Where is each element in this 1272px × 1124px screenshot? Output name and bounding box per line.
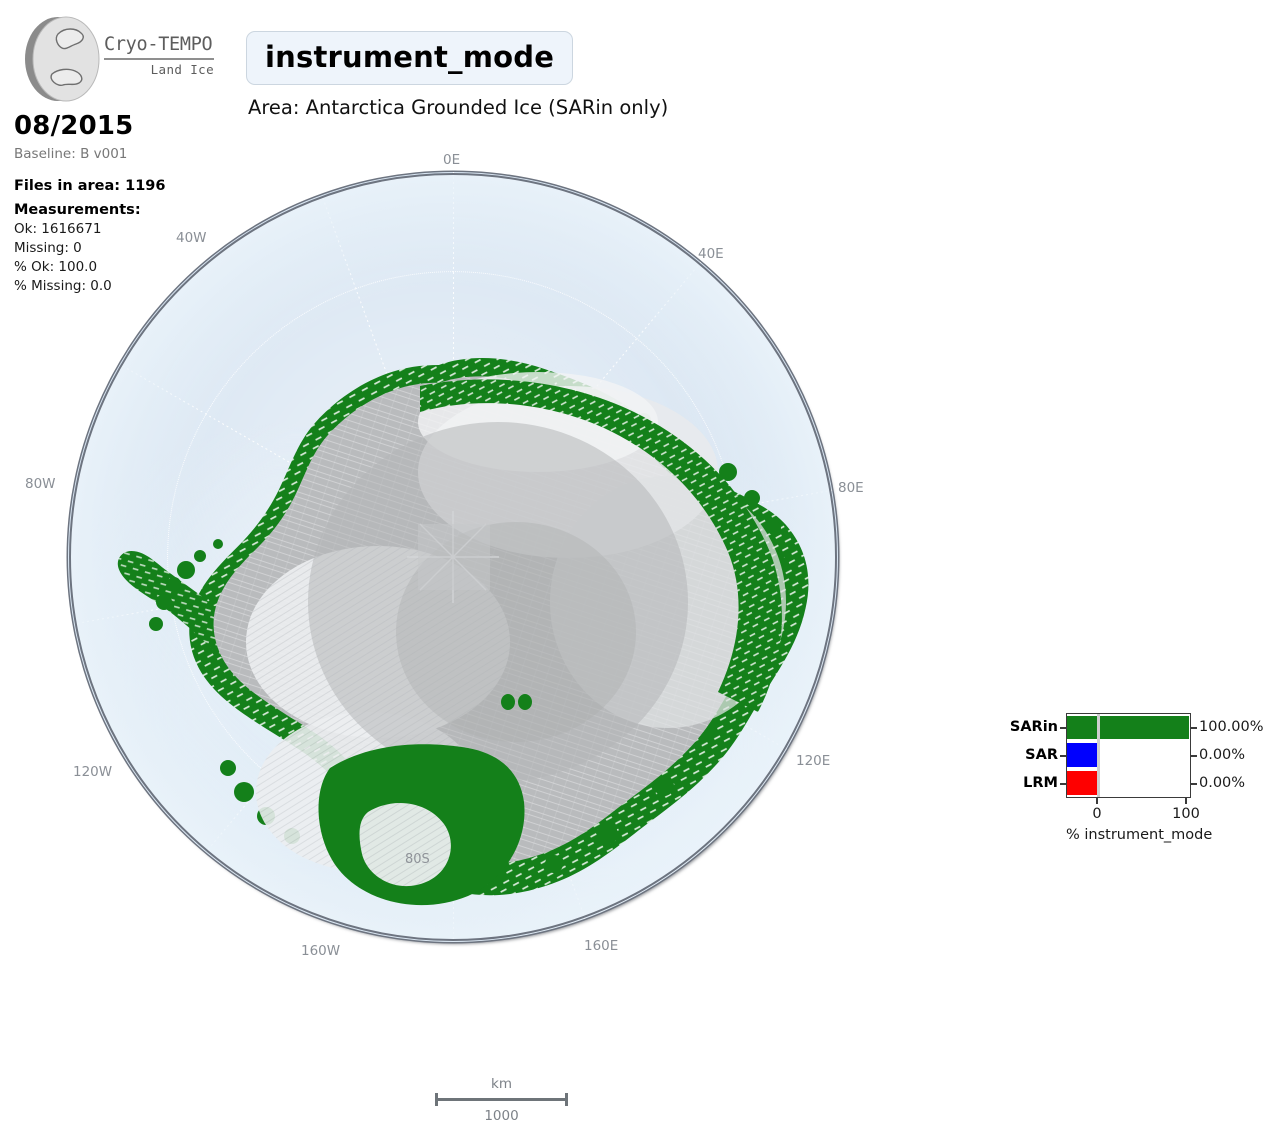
logo-title: Cryo-TEMPO xyxy=(104,34,214,55)
antarctica-landmass xyxy=(68,172,838,942)
baseline-label: Baseline: B v001 xyxy=(14,146,239,162)
polar-map[interactable]: 70S 80S km 1000 xyxy=(68,172,838,942)
legend-swatch-sar xyxy=(1067,743,1097,767)
xtick-0 xyxy=(1096,798,1098,804)
logo-subtitle: Land Ice xyxy=(104,62,214,77)
legend-category-sarin: SARin xyxy=(1010,719,1058,735)
lon-label-160w: 160W xyxy=(301,943,340,959)
xtick-label-100: 100 xyxy=(1172,806,1200,822)
legend-value-sarin: 100.00% xyxy=(1199,719,1264,735)
scale-bar-value: 1000 xyxy=(435,1108,568,1124)
scale-bar-unit: km xyxy=(435,1076,568,1092)
legend-swatch-lrm xyxy=(1067,771,1097,795)
legend-row-sarin[interactable]: SARin 100.00% xyxy=(1067,716,1190,740)
legend-row-lrm[interactable]: LRM 0.00% xyxy=(1067,771,1190,795)
legend-category-sar: SAR xyxy=(1025,747,1058,763)
lon-label-0e: 0E xyxy=(443,152,460,168)
cryo-tempo-logo: Cryo-TEMPO Land Ice xyxy=(14,12,214,104)
scale-bar-line xyxy=(435,1093,568,1106)
lat-label-80s: 80S xyxy=(405,852,430,867)
legend-bar-sarin xyxy=(1100,716,1189,740)
lon-label-160e: 160E xyxy=(584,938,618,954)
lon-label-40e: 40E xyxy=(698,246,724,262)
map-disc: 70S 80S xyxy=(68,172,838,942)
instrument-mode-legend-chart: SARin 100.00% SAR 0.00% LRM 0.00% xyxy=(1008,710,1263,850)
lon-label-120e: 120E xyxy=(796,753,830,769)
legend-value-sar: 0.00% xyxy=(1199,747,1245,763)
area-subtitle: Area: Antarctica Grounded Ice (SARin onl… xyxy=(248,96,668,119)
legend-axis-title: % instrument_mode xyxy=(1066,827,1191,843)
legend-value-lrm: 0.00% xyxy=(1199,775,1245,791)
globe-icon xyxy=(18,14,108,104)
legend-category-lrm: LRM xyxy=(1023,775,1058,791)
lon-label-80w: 80W xyxy=(25,476,56,492)
page-title: instrument_mode xyxy=(246,31,573,85)
lon-label-40w: 40W xyxy=(176,230,207,246)
xtick-label-0: 0 xyxy=(1092,806,1101,822)
date-label: 08/2015 xyxy=(14,112,239,141)
legend-plot-area: SARin 100.00% SAR 0.00% LRM 0.00% xyxy=(1066,713,1191,798)
scale-bar: km 1000 xyxy=(435,1076,568,1124)
lon-label-120w: 120W xyxy=(73,764,112,780)
legend-swatch-sarin xyxy=(1067,716,1097,740)
lon-label-80e: 80E xyxy=(838,480,864,496)
xtick-100 xyxy=(1185,798,1187,804)
legend-row-sar[interactable]: SAR 0.00% xyxy=(1067,743,1190,767)
app-root: Cryo-TEMPO Land Ice 08/2015 Baseline: B … xyxy=(0,0,1272,1060)
